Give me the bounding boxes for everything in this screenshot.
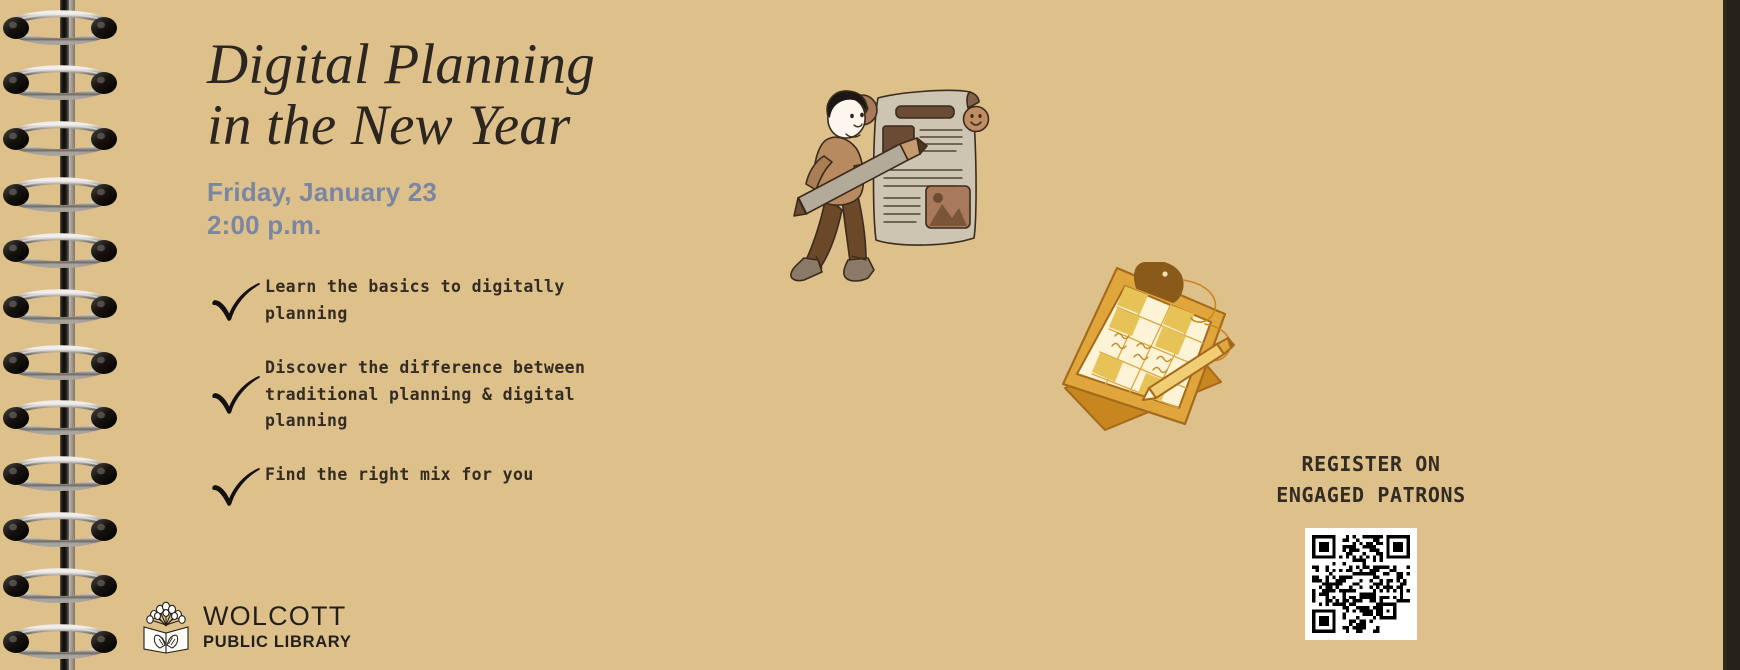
checkmark-icon	[207, 373, 265, 419]
list-item-label: Learn the basics to digitally planning	[265, 273, 565, 327]
binding-ring	[2, 61, 118, 105]
list-item-label: Find the right mix for you	[265, 461, 534, 489]
binding-ring	[2, 620, 118, 664]
binding-ring	[2, 117, 118, 161]
book-hands-flowers-icon	[138, 595, 194, 657]
page-edge-bar	[1726, 0, 1740, 670]
flyer-content: Digital Planning in the New Year Friday,…	[207, 34, 767, 537]
binding-ring	[2, 285, 118, 329]
list-item: Find the right mix for you	[207, 461, 767, 511]
register-line-2: ENGAGED PATRONS	[1245, 480, 1497, 511]
event-time: 2:00 p.m.	[207, 209, 767, 242]
checkmark-icon	[207, 465, 265, 511]
register-callout: REGISTER ON ENGAGED PATRONS	[1245, 449, 1497, 511]
logo-name: WOLCOTT	[203, 603, 352, 630]
spiral-binding-icon	[0, 0, 125, 670]
person-writing-on-document-illustration	[780, 78, 1010, 293]
binding-ring	[2, 229, 118, 273]
logo-wordmark: WOLCOTT PUBLIC LIBRARY	[203, 601, 352, 651]
flyer-canvas: Digital Planning in the New Year Friday,…	[0, 0, 1740, 670]
binding-ring	[2, 508, 118, 552]
binding-ring	[2, 452, 118, 496]
event-date: Friday, January 23	[207, 176, 767, 209]
logo-subtitle: PUBLIC LIBRARY	[203, 634, 352, 651]
qr-code-icon[interactable]	[1305, 528, 1417, 640]
binding-ring	[2, 341, 118, 385]
register-line-1: REGISTER ON	[1245, 449, 1497, 480]
list-item: Discover the difference between traditio…	[207, 354, 767, 435]
library-logo: WOLCOTT PUBLIC LIBRARY	[138, 595, 352, 657]
feature-list: Learn the basics to digitally planning D…	[207, 273, 767, 511]
checkmark-icon	[207, 280, 265, 326]
binding-ring	[2, 396, 118, 440]
event-datetime: Friday, January 23 2:00 p.m.	[207, 176, 767, 242]
binding-ring	[2, 173, 118, 217]
list-item-label: Discover the difference between traditio…	[265, 354, 585, 435]
binding-ring	[2, 564, 118, 608]
binding-ring	[2, 6, 118, 50]
clipboard-with-calendar-and-pencil-illustration	[1045, 262, 1250, 442]
list-item: Learn the basics to digitally planning	[207, 273, 767, 327]
page-title: Digital Planning in the New Year	[207, 34, 767, 156]
